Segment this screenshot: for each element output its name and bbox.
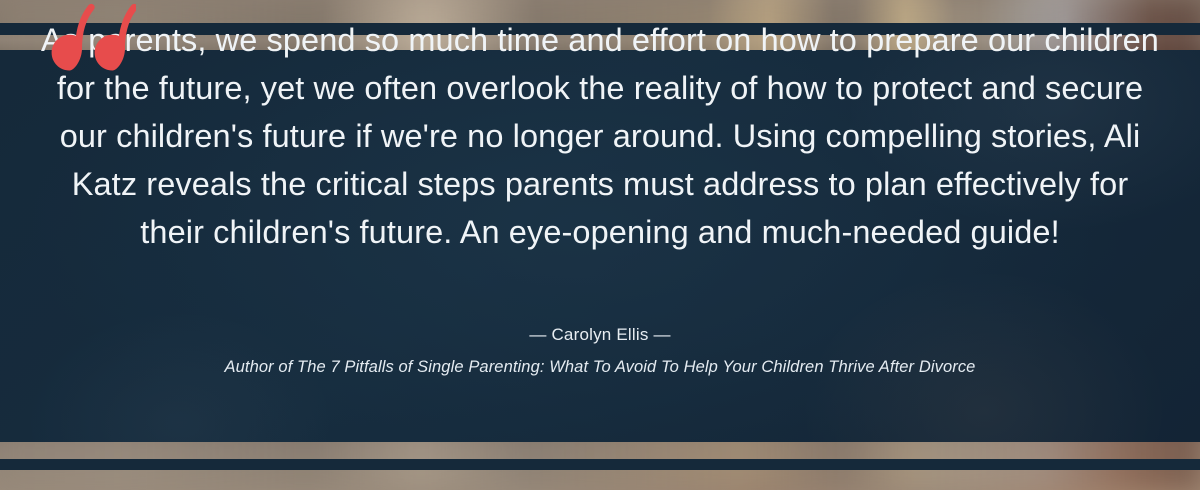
attribution-title: Author of The 7 Pitfalls of Single Paren… [0,355,1200,379]
attribution: — Carolyn Ellis — Author of The 7 Pitfal… [0,322,1200,379]
bottom-accent-rule [0,459,1200,470]
attribution-name: — Carolyn Ellis — [0,322,1200,348]
double-quote-icon [48,2,136,72]
quote-text: As parents, we spend so much time and ef… [0,16,1200,256]
testimonial-card: As parents, we spend so much time and ef… [0,0,1200,490]
